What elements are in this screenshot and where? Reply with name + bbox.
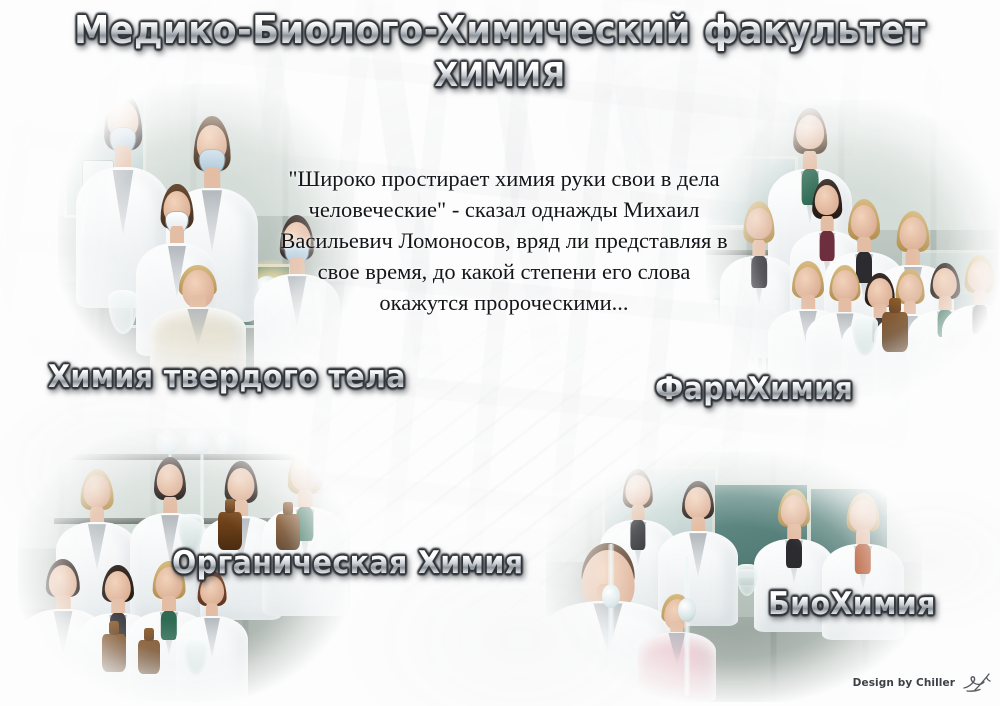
round-flask <box>216 431 238 453</box>
page-title-line-1: Медико-Биолого-Химический факультет <box>35 8 965 52</box>
head <box>83 475 110 508</box>
round-flask <box>186 428 212 454</box>
signature-glyph-icon <box>962 672 992 694</box>
caption-pharmaceutical-chemistry: ФармХимия <box>655 371 853 407</box>
glass-pipette <box>608 544 614 694</box>
head <box>625 475 650 506</box>
amber-bottle <box>138 640 160 674</box>
glass-pipette <box>684 556 690 696</box>
head <box>157 464 183 496</box>
head <box>796 115 824 149</box>
caption-solid-state-chemistry: Химия твердого тела <box>48 359 406 395</box>
head <box>746 208 772 239</box>
head <box>967 261 992 292</box>
amber-bottle <box>102 634 126 672</box>
inner-top <box>161 611 177 640</box>
head <box>781 495 807 527</box>
designer-credit-text: Design by Chiller <box>853 677 955 689</box>
head <box>685 487 711 519</box>
page-title-line-2: ХИМИЯ <box>35 55 965 94</box>
pipette-bulb <box>678 598 696 622</box>
photo-pharmaceutical-chemistry <box>706 100 998 396</box>
inner-top <box>855 544 871 574</box>
poster-canvas: Медико-Биолого-Химический факультет ХИМИ… <box>0 0 1000 706</box>
photo-biochemistry <box>546 452 922 702</box>
student-figure <box>262 446 348 616</box>
round-flask <box>156 430 180 454</box>
inner-top <box>786 539 802 568</box>
inner-top <box>972 305 987 334</box>
pipette-bulb <box>602 584 620 608</box>
designer-credit: Design by Chiller <box>853 672 992 694</box>
student-figure <box>176 568 248 702</box>
head <box>227 468 254 501</box>
head <box>849 499 876 532</box>
pink-top <box>638 632 716 702</box>
inner-top <box>751 256 767 288</box>
student-figure <box>638 592 716 702</box>
caption-biochemistry: БиоХимия <box>768 586 936 622</box>
head <box>291 456 319 491</box>
lomonosov-quote: "Широко простирает химия руки свои в дел… <box>278 163 730 318</box>
head <box>899 217 926 250</box>
caption-organic-chemistry: Органическая Химия <box>172 545 523 581</box>
student-figure <box>942 252 998 396</box>
amber-bottle <box>882 312 908 352</box>
lab-coat <box>942 305 998 396</box>
